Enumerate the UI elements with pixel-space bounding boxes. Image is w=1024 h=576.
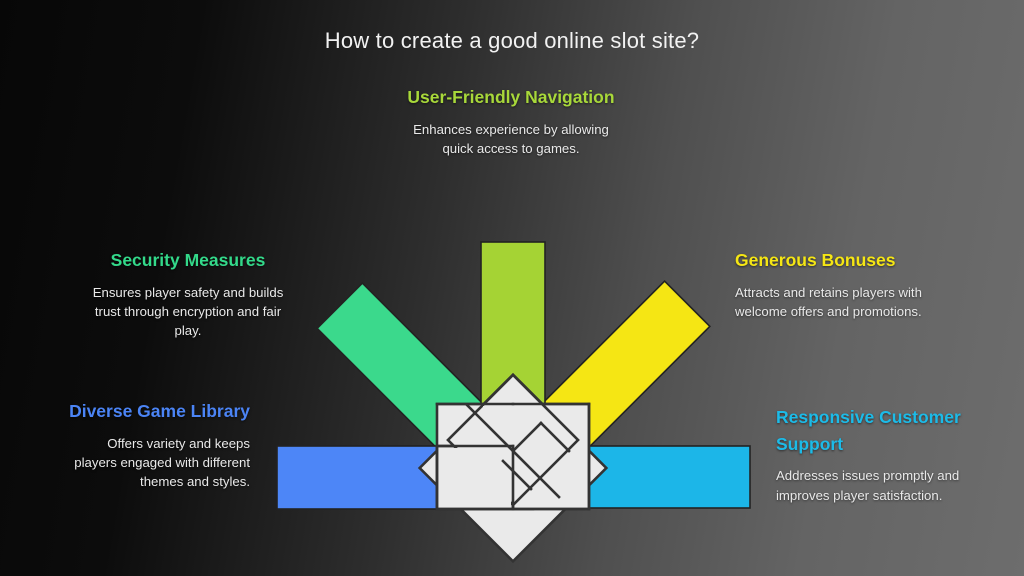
spoke-responsive-customer-support [589,446,750,508]
hub-spiral-edge-notch [541,423,569,451]
callout-user-friendly-navigation[interactable]: User-Friendly Navigation Enhances experi… [405,84,617,158]
spoke-user-friendly-navigation [481,242,545,405]
spoke-group [277,242,750,509]
hub-inner-diamond [448,375,578,505]
callout-heading: Responsive Customer Support [776,404,972,457]
hub-group [420,375,607,562]
callout-body: Enhances experience by allowing quick ac… [405,120,617,159]
callout-body: Offers variety and keeps players engaged… [62,434,250,492]
hub-spiral-edge-diag-b [513,423,541,451]
callout-body: Addresses issues promptly and improves p… [776,466,972,505]
hub-patch-left [439,448,511,507]
hub-spiral-edge-diag-c [503,461,531,489]
infographic-canvas: How to create a good online slot site? [0,0,1024,576]
callout-generous-bonuses[interactable]: Generous Bonuses Attracts and retains pl… [735,247,935,321]
page-title: How to create a good online slot site? [0,28,1024,54]
callout-heading: Diverse Game Library [62,398,250,425]
hub-square-right [513,404,589,509]
hub-patch-top [483,406,541,462]
callout-heading: User-Friendly Navigation [405,84,617,111]
spoke-security-measures [317,283,487,453]
callout-heading: Security Measures [83,247,293,274]
callout-body: Ensures player safety and builds trust t… [83,283,293,341]
hub-diamond [420,375,607,562]
callout-security-measures[interactable]: Security Measures Ensures player safety … [83,247,293,341]
hub-square-upper-left [437,404,513,509]
callout-responsive-customer-support[interactable]: Responsive Customer Support Addresses is… [776,404,972,505]
hub-square-lower-left [437,446,533,509]
spoke-diverse-game-library [277,446,437,509]
callout-body: Attracts and retains players with welcom… [735,283,935,322]
hub-spiral-edge-diag-a [467,405,559,497]
callout-heading: Generous Bonuses [735,247,935,274]
spoke-generous-bonuses [540,281,710,451]
callout-diverse-game-library[interactable]: Diverse Game Library Offers variety and … [62,398,250,492]
